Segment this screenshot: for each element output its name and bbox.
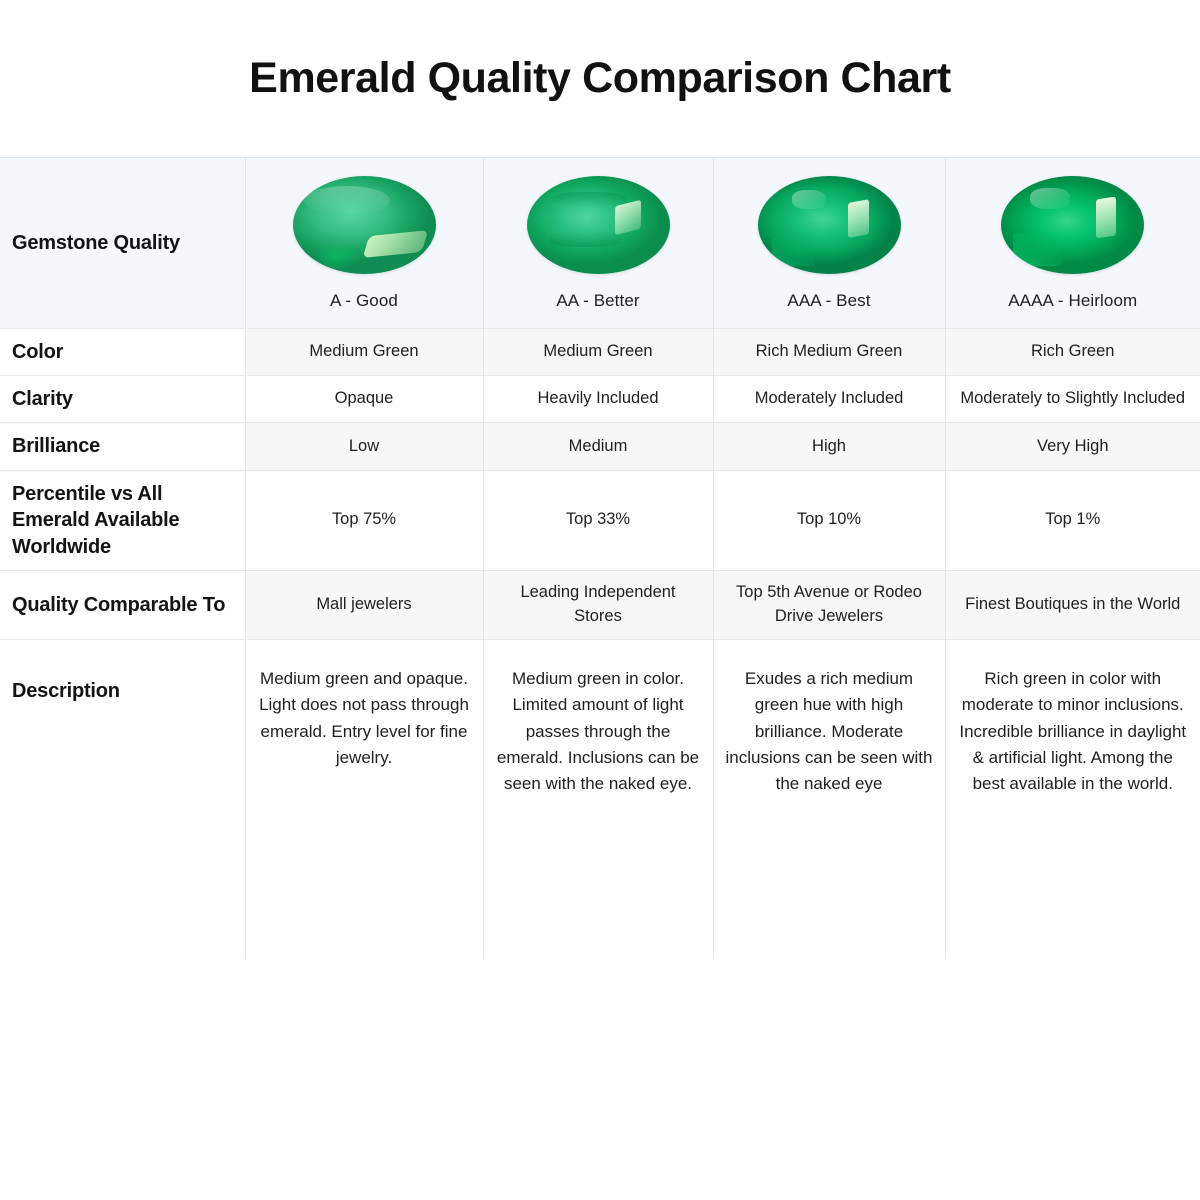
row-label-gemstone-quality: Gemstone Quality [0, 158, 245, 329]
row-label-color: Color [0, 328, 245, 375]
gem-label-aaa: AAA - Best [787, 289, 870, 314]
cell-color-a: Medium Green [245, 328, 483, 375]
cell-percentile-aaaa: Top 1% [945, 470, 1200, 570]
table-row-quality-comparable-to: Quality Comparable To Mall jewelers Lead… [0, 570, 1200, 639]
cell-percentile-aaa: Top 10% [713, 470, 945, 570]
emerald-quality-comparison-page: Emerald Quality Comparison Chart Gemston… [0, 0, 1200, 1200]
table-row-brilliance: Brilliance Low Medium High Very High [0, 423, 1200, 470]
emerald-gem-a-icon [293, 176, 436, 274]
cell-color-aa: Medium Green [483, 328, 713, 375]
gem-block-aaa: AAA - Best [726, 176, 933, 314]
cell-clarity-aaa: Moderately Included [713, 376, 945, 423]
emerald-gem-aa-icon [527, 176, 670, 274]
gem-cell-a: A - Good [245, 158, 483, 329]
cell-clarity-aa: Heavily Included [483, 376, 713, 423]
gem-label-aaaa: AAAA - Heirloom [1008, 289, 1137, 314]
gem-cell-aa: AA - Better [483, 158, 713, 329]
cell-color-aaa: Rich Medium Green [713, 328, 945, 375]
cell-color-aaaa: Rich Green [945, 328, 1200, 375]
table-row-description: Description Medium green and opaque. Lig… [0, 639, 1200, 959]
cell-description-a: Medium green and opaque. Light does not … [245, 639, 483, 959]
emerald-quality-comparison-table: Gemstone Quality A - Good AA - B [0, 157, 1200, 959]
page-title-container: Emerald Quality Comparison Chart [0, 0, 1200, 157]
gem-block-a: A - Good [258, 176, 471, 314]
cell-comparable-aaaa: Finest Boutiques in the World [945, 570, 1200, 639]
cell-clarity-aaaa: Moderately to Slightly Included [945, 376, 1200, 423]
cell-brilliance-aaa: High [713, 423, 945, 470]
table-row-gemstone-quality: Gemstone Quality A - Good AA - B [0, 158, 1200, 329]
emerald-gem-aaa-icon [758, 176, 901, 274]
row-label-quality-comparable-to: Quality Comparable To [0, 570, 245, 639]
cell-description-aaa: Exudes a rich medium green hue with high… [713, 639, 945, 959]
cell-clarity-a: Opaque [245, 376, 483, 423]
cell-brilliance-aa: Medium [483, 423, 713, 470]
gem-block-aa: AA - Better [496, 176, 701, 314]
table-row-color: Color Medium Green Medium Green Rich Med… [0, 328, 1200, 375]
row-label-description: Description [0, 639, 245, 959]
cell-description-aa: Medium green in color. Limited amount of… [483, 639, 713, 959]
cell-brilliance-a: Low [245, 423, 483, 470]
gem-block-aaaa: AAAA - Heirloom [958, 176, 1189, 314]
table-row-percentile: Percentile vs All Emerald Available Worl… [0, 470, 1200, 570]
cell-percentile-a: Top 75% [245, 470, 483, 570]
cell-description-aaaa: Rich green in color with moderate to min… [945, 639, 1200, 959]
page-title: Emerald Quality Comparison Chart [249, 55, 951, 102]
gem-cell-aaaa: AAAA - Heirloom [945, 158, 1200, 329]
row-label-clarity: Clarity [0, 376, 245, 423]
table-row-clarity: Clarity Opaque Heavily Included Moderate… [0, 376, 1200, 423]
gem-label-aa: AA - Better [556, 289, 639, 314]
cell-percentile-aa: Top 33% [483, 470, 713, 570]
gem-label-a: A - Good [330, 289, 398, 314]
cell-brilliance-aaaa: Very High [945, 423, 1200, 470]
row-label-brilliance: Brilliance [0, 423, 245, 470]
cell-comparable-aaa: Top 5th Avenue or Rodeo Drive Jewelers [713, 570, 945, 639]
cell-comparable-a: Mall jewelers [245, 570, 483, 639]
gem-cell-aaa: AAA - Best [713, 158, 945, 329]
cell-comparable-aa: Leading Independent Stores [483, 570, 713, 639]
row-label-percentile: Percentile vs All Emerald Available Worl… [0, 470, 245, 570]
emerald-gem-aaaa-icon [1001, 176, 1144, 274]
